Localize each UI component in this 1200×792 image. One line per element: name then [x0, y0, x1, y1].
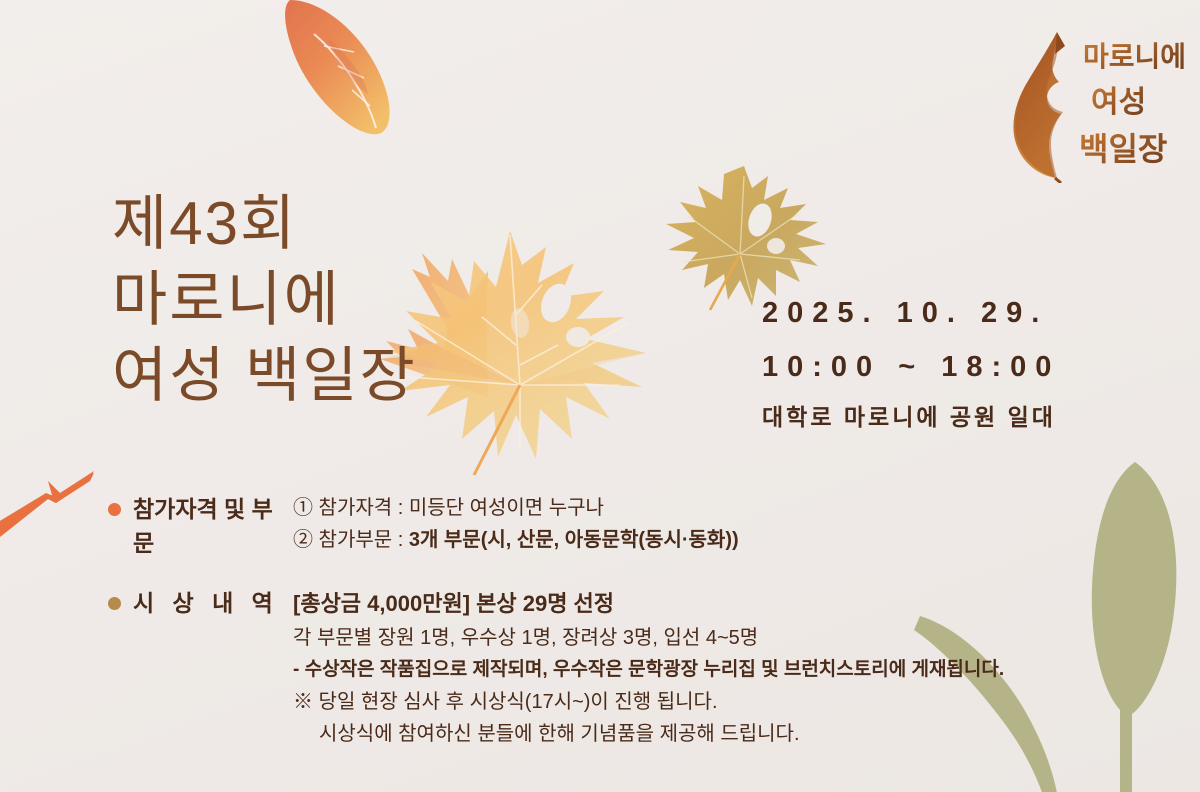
souvenir-note-line: 시상식에 참여하신 분들에 한해 기념품을 제공해 드립니다. — [293, 718, 1108, 750]
prize-total-amount: [총상금 4,000만원] — [293, 591, 470, 616]
event-place: 대학로 마로니에 공원 일대 — [762, 394, 1060, 440]
publication-note-line: - 수상작은 작품집으로 제작되며, 우수작은 문학광장 누리집 및 브런치스토… — [293, 654, 1108, 686]
prize-breakdown-line: 각 부문별 장원 1명, 우수상 1명, 장려상 3명, 입선 4~5명 — [293, 622, 1108, 654]
bullet-dot-icon — [108, 597, 121, 610]
eligibility-line: ① 참가자격 : 미등단 여성이면 누구나 — [293, 492, 1108, 524]
prize-total-rest: 본상 29명 선정 — [470, 591, 614, 616]
event-details: 2025. 10. 29. 10:00 ~ 18:00 대학로 마로니에 공원 … — [762, 286, 1060, 440]
ceremony-note-line: ※ 당일 현장 심사 후 시상식(17시~)이 진행 됩니다. — [293, 686, 1108, 718]
poster-canvas: 마로니에 여성 백일장 제43회 마로니에 여성 백일장 2025. 10. 2… — [0, 0, 1200, 792]
category-line: ② 참가부문 : 3개 부문(시, 산문, 아동문학(동시·동화)) — [293, 524, 1108, 556]
maronnier-logo: 마로니에 여성 백일장 — [995, 28, 1185, 183]
info-section: 참가자격 및 부문 ① 참가자격 : 미등단 여성이면 누구나 ② 참가부문 :… — [108, 492, 1108, 776]
info-row-body: ① 참가자격 : 미등단 여성이면 누구나 ② 참가부문 : 3개 부문(시, … — [293, 492, 1108, 556]
prize-total-line: [총상금 4,000만원] 본상 29명 선정 — [293, 586, 1108, 622]
info-row-prizes: 시 상 내 역 [총상금 4,000만원] 본상 29명 선정 각 부문별 장원… — [108, 586, 1108, 750]
title-line-1: 제43회 — [112, 186, 417, 262]
bullet-dot-icon — [108, 503, 121, 516]
title-line-3: 여성 백일장 — [112, 338, 417, 414]
event-date: 2025. 10. 29. — [762, 286, 1060, 340]
category-prefix: ② 참가부문 : — [293, 529, 409, 551]
orange-arrow-leaf-left-icon — [0, 455, 100, 545]
logo-text-line3: 백일장 — [1079, 131, 1167, 167]
woman-face-leaf-logo-icon: 마로니에 여성 백일장 — [995, 28, 1185, 183]
title-line-2: 마로니에 — [112, 262, 417, 338]
info-row-body: [총상금 4,000만원] 본상 29명 선정 각 부문별 장원 1명, 우수상… — [293, 586, 1108, 750]
info-row-eligibility: 참가자격 및 부문 ① 참가자격 : 미등단 여성이면 누구나 ② 참가부문 :… — [108, 492, 1108, 560]
poster-title: 제43회 마로니에 여성 백일장 — [112, 186, 417, 414]
info-row-label: 시 상 내 역 — [133, 586, 293, 620]
orange-pointed-leaf-top-icon — [268, 0, 438, 144]
logo-text-line2: 여성 — [1091, 86, 1146, 119]
category-value: 3개 부문(시, 산문, 아동문학(동시·동화)) — [409, 529, 739, 551]
info-row-label: 참가자격 및 부문 — [133, 492, 293, 560]
event-time: 10:00 ~ 18:00 — [762, 340, 1060, 394]
logo-text-line1: 마로니에 — [1083, 41, 1185, 72]
